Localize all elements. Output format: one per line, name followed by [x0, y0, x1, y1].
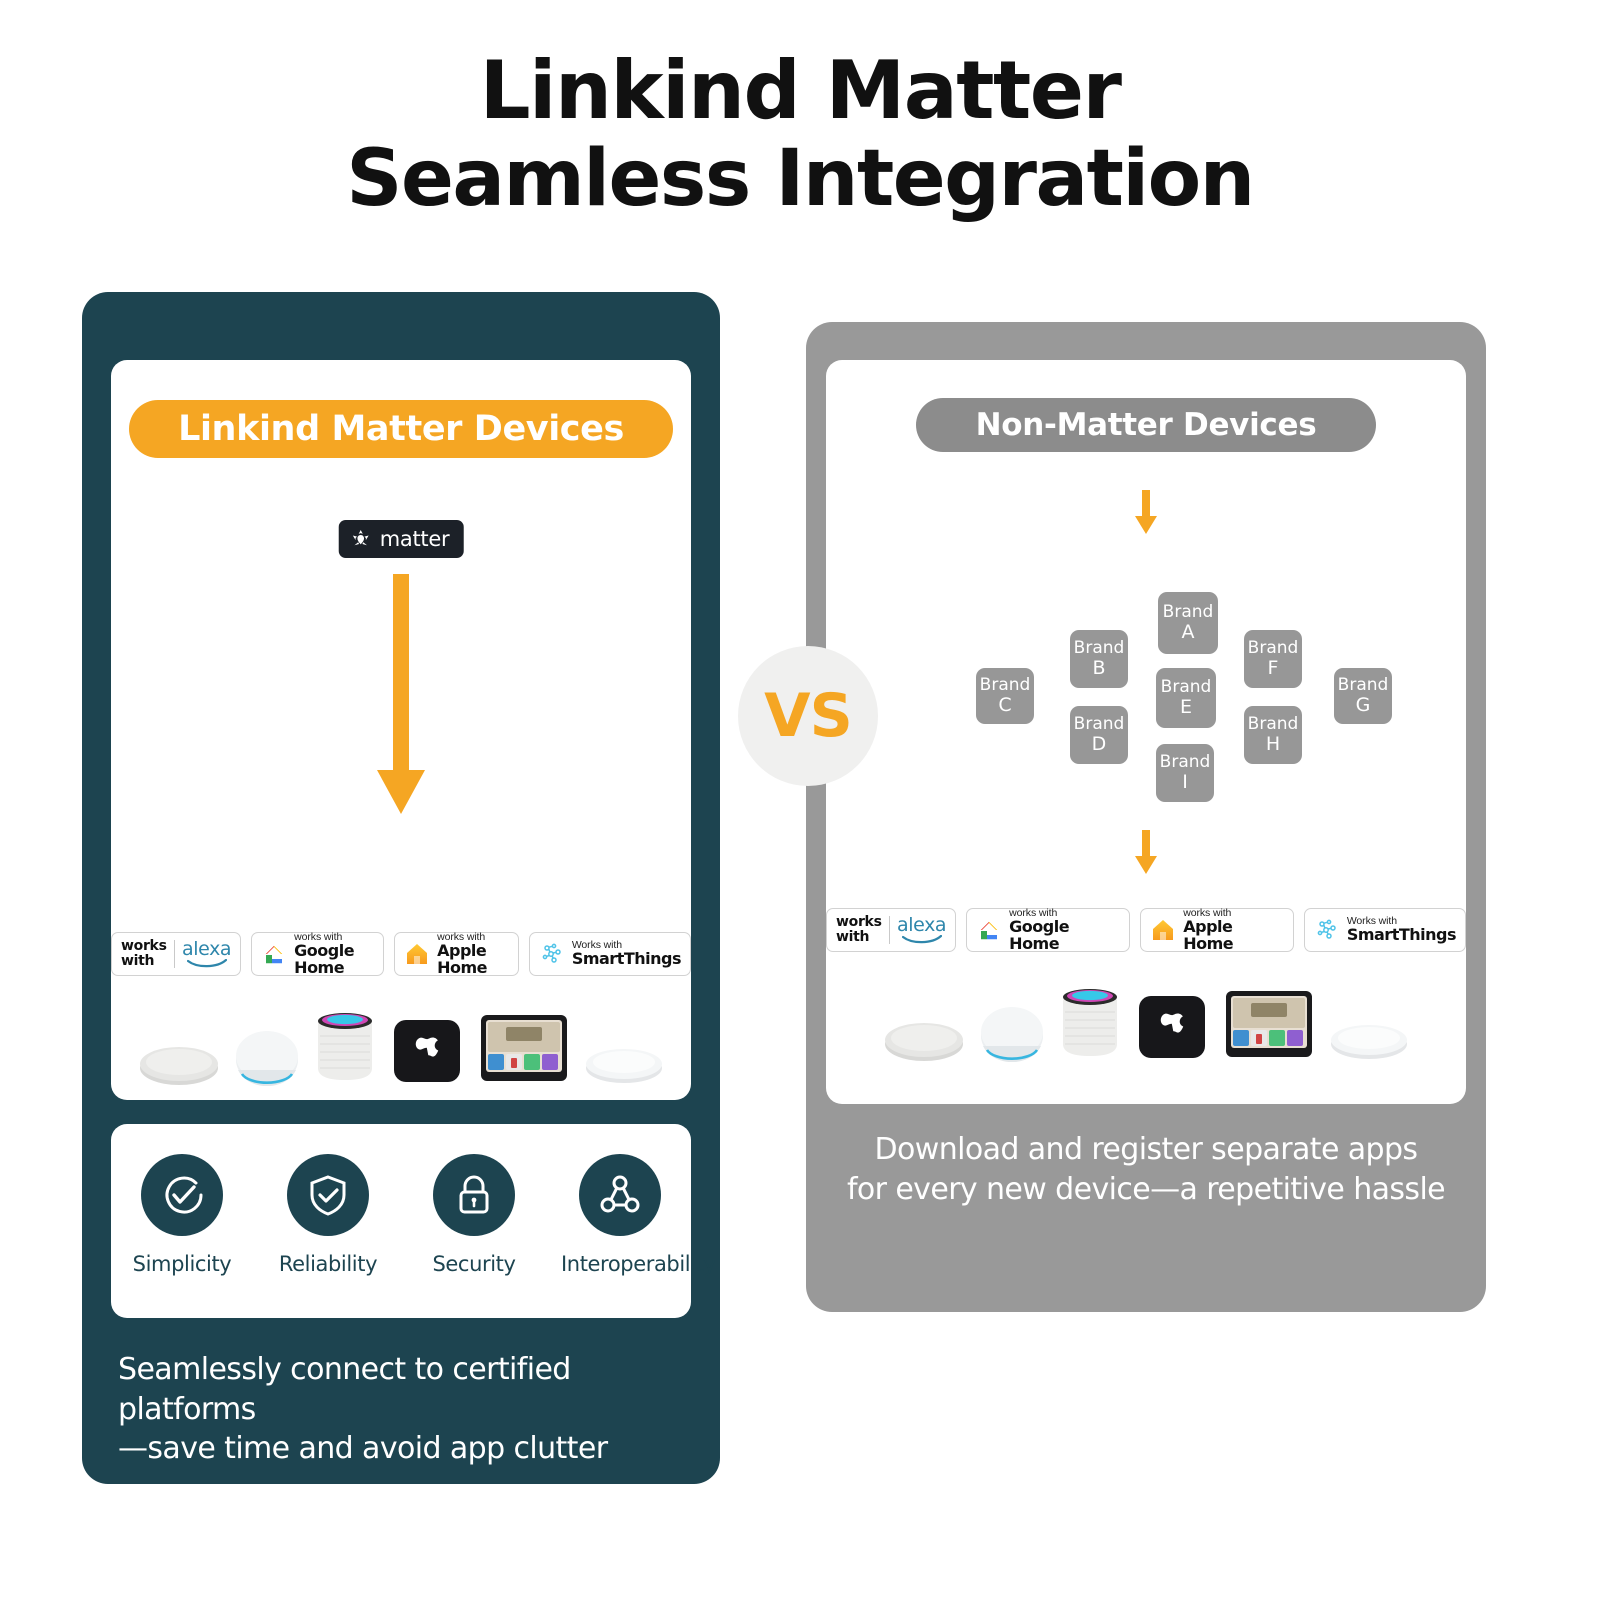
apple-home-icon — [1150, 917, 1176, 943]
non-matter-card: Non-Matter Devices Brand A Brand B Bran — [826, 360, 1466, 1104]
benefit-label: Security — [415, 1252, 533, 1276]
network-nodes-icon — [579, 1154, 661, 1236]
smartthings-icon — [1314, 917, 1340, 943]
arrow-down-icon — [1131, 830, 1161, 883]
brand-label-line2: A — [1182, 622, 1195, 643]
smart-display-tablet-device — [1223, 988, 1315, 1062]
smartthings-icon — [539, 941, 565, 967]
brand-label-line1: Brand — [1163, 603, 1214, 622]
google-home-wordmark: Google Home — [1009, 919, 1120, 953]
brand-box-d: Brand D — [1070, 706, 1128, 764]
brand-box-b: Brand B — [1070, 630, 1128, 688]
brand-label-line1: Brand — [980, 676, 1031, 695]
google-nest-mini-device — [883, 1014, 965, 1062]
brand-label-line1: Brand — [1338, 676, 1389, 695]
brand-label-line2: G — [1356, 695, 1371, 716]
brand-box-f: Brand F — [1244, 630, 1302, 688]
works-with-alexa-badge: workswith alexa — [826, 908, 956, 952]
brand-box-a: Brand A — [1158, 592, 1218, 654]
works-with-apple-home-badge: works with Apple Home — [1140, 908, 1294, 952]
apple-homepod-device — [1059, 978, 1121, 1062]
smart-display-tablet-device — [478, 1012, 570, 1086]
caption-line-1: Download and register separate apps — [806, 1130, 1486, 1170]
brand-label-line2: C — [998, 695, 1011, 716]
brand-label-line2: H — [1266, 734, 1280, 755]
shield-check-icon — [287, 1154, 369, 1236]
matter-caption: Seamlessly connect to certified platform… — [118, 1350, 698, 1469]
page-title: Linkind Matter Seamless Integration — [0, 46, 1600, 223]
divider — [174, 940, 175, 968]
device-row — [111, 990, 691, 1086]
matter-devices-card: Linkind Matter Devices matter — [111, 360, 691, 1100]
non-matter-panel: Non-Matter Devices Brand A Brand B Bran — [806, 322, 1486, 1312]
brand-box-i: Brand I — [1156, 744, 1214, 802]
works-with-badge-row: workswith alexa — [111, 932, 691, 976]
smartthings-wordmark: SmartThings — [1347, 927, 1456, 944]
brand-label-line1: Brand — [1161, 678, 1212, 697]
benefit-security: Security — [415, 1154, 533, 1276]
apple-tv-box-device — [1135, 992, 1209, 1062]
brand-label-line2: I — [1182, 772, 1188, 793]
google-home-icon — [976, 917, 1002, 943]
apple-homepod-device — [314, 1002, 376, 1086]
benefits-row: Simplicity Reliability — [111, 1154, 691, 1276]
works-with-google-home-badge: works with Google Home — [251, 932, 384, 976]
amazon-echo-dot-device — [979, 1000, 1045, 1062]
brand-label-line2: D — [1092, 734, 1107, 755]
brand-label-line1: Brand — [1074, 715, 1125, 734]
check-circle-icon — [141, 1154, 223, 1236]
smartthings-hub-device — [1329, 1018, 1409, 1062]
works-with-alexa-badge: workswith alexa — [111, 932, 241, 976]
lock-icon — [433, 1154, 515, 1236]
matter-wordmark: matter — [380, 527, 450, 551]
amazon-alexa-icon: alexa — [182, 940, 231, 968]
caption-line-2: —save time and avoid app clutter — [118, 1429, 698, 1469]
google-nest-mini-device — [138, 1038, 220, 1086]
works-with-smartthings-badge: Works with SmartThings — [1304, 908, 1466, 952]
apple-home-icon — [404, 941, 430, 967]
linkind-matter-pill: Linkind Matter Devices — [129, 400, 673, 458]
works-with-badge-row: workswith alexa — [826, 908, 1466, 952]
benefit-label: Interoperability — [561, 1252, 679, 1276]
benefits-card: Simplicity Reliability — [111, 1124, 691, 1318]
vs-label: VS — [764, 681, 852, 751]
linkind-matter-panel: Linkind Matter Devices matter — [82, 292, 720, 1484]
benefit-reliability: Reliability — [269, 1154, 387, 1276]
brand-label-line2: B — [1092, 658, 1105, 679]
title-line-2: Seamless Integration — [0, 136, 1600, 223]
smartthings-hub-device — [584, 1042, 664, 1086]
amazon-alexa-icon: alexa — [897, 916, 946, 944]
brand-box-c: Brand C — [976, 668, 1034, 724]
brand-box-e: Brand E — [1156, 668, 1216, 728]
alexa-wordmark: alexa — [897, 916, 946, 935]
brand-box-g: Brand G — [1334, 668, 1392, 724]
brand-label-line1: Brand — [1248, 715, 1299, 734]
brand-label-line2: E — [1180, 697, 1192, 718]
brand-label-line1: Brand — [1160, 753, 1211, 772]
amazon-echo-dot-device — [234, 1024, 300, 1086]
google-home-icon — [261, 941, 287, 967]
brand-box-h: Brand H — [1244, 706, 1302, 764]
works-with-apple-home-badge: works with Apple Home — [394, 932, 519, 976]
works-with-label: workswith — [121, 939, 167, 969]
matter-logo-icon — [350, 528, 372, 550]
device-row — [826, 966, 1466, 1062]
google-home-wordmark: Google Home — [294, 943, 374, 977]
infographic-canvas: Linkind Matter Seamless Integration Non-… — [0, 0, 1600, 1600]
caption-line-1: Seamlessly connect to certified platform… — [118, 1350, 698, 1429]
alexa-wordmark: alexa — [182, 940, 231, 959]
works-with-google-home-badge: works with Google Home — [966, 908, 1130, 952]
arrow-down-icon — [372, 574, 430, 831]
matter-logo-badge: matter — [339, 520, 464, 558]
brand-label-line1: Brand — [1074, 639, 1125, 658]
brand-label-line1: Brand — [1248, 639, 1299, 658]
benefit-label: Reliability — [269, 1252, 387, 1276]
works-with-smartthings-badge: Works with SmartThings — [529, 932, 691, 976]
benefit-label: Simplicity — [123, 1252, 241, 1276]
divider — [889, 916, 890, 944]
smartthings-wordmark: SmartThings — [572, 951, 681, 968]
benefit-interoperability: Interoperability — [561, 1154, 679, 1276]
non-matter-caption: Download and register separate apps for … — [806, 1130, 1486, 1210]
vs-badge: VS — [738, 646, 878, 786]
works-with-label: workswith — [836, 915, 882, 945]
apple-home-wordmark: Apple Home — [1183, 919, 1284, 953]
apple-home-wordmark: Apple Home — [437, 943, 509, 977]
brand-label-line2: F — [1268, 658, 1279, 679]
title-line-1: Linkind Matter — [0, 46, 1600, 136]
apple-tv-box-device — [390, 1016, 464, 1086]
benefit-simplicity: Simplicity — [123, 1154, 241, 1276]
caption-line-2: for every new device—a repetitive hassle — [806, 1170, 1486, 1210]
